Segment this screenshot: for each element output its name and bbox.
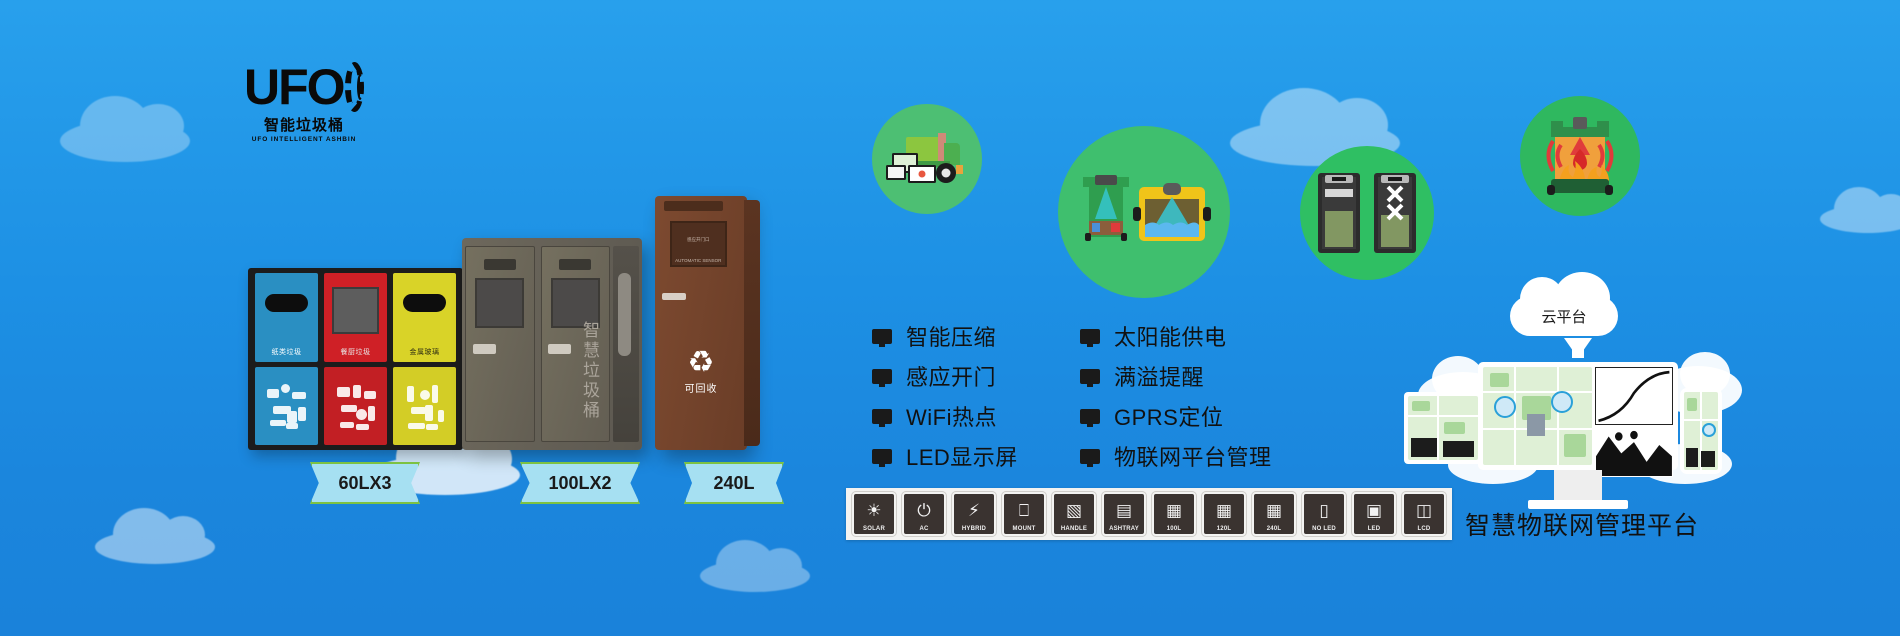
cloud-platform-label: 云平台 xyxy=(1541,306,1586,327)
feature-label: WiFi热点 xyxy=(906,400,997,432)
option-hybrid[interactable]: ⚡ HYBRID xyxy=(952,492,996,536)
feature-label: LED显示屏 xyxy=(906,440,1018,472)
chart-panel xyxy=(1595,367,1673,465)
brand-logo: UFO 智能垃圾桶 UFO INTELLIGENT ASHBIN xyxy=(244,62,364,143)
waste-slot xyxy=(265,294,308,312)
compartment-top-paper: 纸类垃圾 xyxy=(255,273,318,362)
area-chart xyxy=(1595,427,1673,477)
option-label: 100L xyxy=(1167,526,1181,532)
feature-circle-garbage-truck xyxy=(872,104,982,214)
logo-wordmark: UFO xyxy=(244,64,344,110)
compartment-body-paper xyxy=(255,367,318,445)
bin-icon: ▦ xyxy=(1216,494,1232,526)
option-icon-strip: ☀ SOLAR ⏻ AC ⚡ HYBRID ⎕ MOUNT ▧ HANDLE ▤… xyxy=(846,488,1452,540)
handle-icon: ▧ xyxy=(1066,494,1082,526)
bin-handle xyxy=(473,344,496,354)
ashtray-icon: ▤ xyxy=(1116,494,1132,526)
feature-item: 物联网平台管理 xyxy=(1080,440,1272,472)
feature-list-left: 智能压缩 感应开门 WiFi热点 LED显示屏 xyxy=(872,320,1018,480)
product-bin-240l: 感应开门口 AUTOMATIC SENSOR ♻ 可回收 xyxy=(655,196,747,450)
feature-label: 物联网平台管理 xyxy=(1114,440,1272,472)
recycle-icon: ♻ xyxy=(685,348,718,378)
bin-compartment-kitchen: 餐厨垃圾 xyxy=(324,273,387,445)
option-label: LED xyxy=(1368,526,1381,532)
monitor-icon xyxy=(1080,369,1100,384)
capacity-label-240l: 240L xyxy=(684,462,784,504)
feature-circle-compression xyxy=(1300,146,1434,280)
logo-english-name: UFO INTELLIGENT ASHBIN xyxy=(244,136,364,143)
capacity-label-60lx3: 60LX3 xyxy=(310,462,420,504)
logo-mark: UFO xyxy=(244,62,364,112)
platform-caption: 智慧物联网管理平台 xyxy=(1432,506,1732,542)
compartment-label: 金属玻璃 xyxy=(393,347,456,357)
feature-item: 感应开门 xyxy=(872,360,1018,392)
bolt-icon: ⚡ xyxy=(968,494,980,526)
option-label: 240L xyxy=(1267,526,1281,532)
monitor-icon xyxy=(1478,362,1678,470)
down-arrow-icon xyxy=(1564,338,1592,358)
waste-slot xyxy=(403,294,446,312)
compartment-screen xyxy=(332,287,379,334)
sun-icon: ☀ xyxy=(866,494,881,526)
cloud-decoration xyxy=(95,530,215,564)
fire-alarm-icon xyxy=(1537,115,1623,197)
feature-label: 感应开门 xyxy=(906,360,996,392)
option-label: SOLAR xyxy=(863,526,885,532)
phone-icon xyxy=(1680,388,1722,474)
option-ashtray[interactable]: ▤ ASHTRAY xyxy=(1102,492,1146,536)
blank-panel-icon: ▯ xyxy=(1319,494,1328,526)
option-label: ASHTRAY xyxy=(1109,526,1139,532)
monitor-icon xyxy=(872,329,892,344)
compartment-top-metal-glass: 金属玻璃 xyxy=(393,273,456,362)
bin-compartment-metal-glass: 金属玻璃 xyxy=(393,273,456,445)
option-120l[interactable]: ▦ 120L xyxy=(1202,492,1246,536)
bin-door-left xyxy=(465,246,535,442)
feature-item: 太阳能供电 xyxy=(1080,320,1272,352)
feature-circle-fill-level xyxy=(1058,126,1230,298)
waste-graphic xyxy=(332,377,380,436)
option-label: HYBRID xyxy=(962,526,986,532)
bin-body-text: 智慧垃圾桶 xyxy=(577,321,602,421)
option-led[interactable]: ▣ LED xyxy=(1352,492,1396,536)
option-label: AC xyxy=(919,526,928,532)
bin-icon: ▦ xyxy=(1166,494,1182,526)
bin-door-right: 智慧垃圾桶 xyxy=(541,246,611,442)
feature-label: 太阳能供电 xyxy=(1114,320,1227,352)
phone-screen xyxy=(1684,392,1718,470)
feature-label: 智能压缩 xyxy=(906,320,996,352)
recycle-label: 可回收 xyxy=(685,380,718,395)
compartment-label: 纸类垃圾 xyxy=(255,347,318,357)
option-solar[interactable]: ☀ SOLAR xyxy=(852,492,896,536)
garbage-truck-icon xyxy=(884,127,970,191)
waste-graphic xyxy=(401,377,449,436)
waste-compression-icon xyxy=(1312,171,1422,255)
monitor-stand xyxy=(1554,470,1602,500)
feature-circle-fire-alarm xyxy=(1520,96,1640,216)
option-240l[interactable]: ▦ 240L xyxy=(1252,492,1296,536)
monitor-icon xyxy=(872,449,892,464)
tablet-screen xyxy=(1408,396,1478,460)
bin-vent xyxy=(484,259,516,271)
compartment-body-kitchen xyxy=(324,367,387,445)
feature-list-right: 太阳能供电 满溢提醒 GPRS定位 物联网平台管理 xyxy=(1080,320,1272,480)
mount-icon: ⎕ xyxy=(1019,494,1029,526)
cloud-platform-badge: 云平台 xyxy=(1510,296,1618,336)
window-text-en: AUTOMATIC SENSOR xyxy=(672,258,725,265)
capacity-label-100lx2: 100LX2 xyxy=(520,462,640,504)
monitor-icon xyxy=(872,369,892,384)
option-100l[interactable]: ▦ 100L xyxy=(1152,492,1196,536)
monitor-icon xyxy=(1080,329,1100,344)
option-handle[interactable]: ▧ HANDLE xyxy=(1052,492,1096,536)
line-chart xyxy=(1595,367,1673,425)
recycle-badge: ♻ 可回收 xyxy=(685,348,718,395)
bin-compartment-paper: 纸类垃圾 xyxy=(255,273,318,445)
bin-handle xyxy=(662,293,686,301)
feature-item: 智能压缩 xyxy=(872,320,1018,352)
option-label: NO LED xyxy=(1312,526,1336,532)
waste-graphic xyxy=(263,377,311,436)
option-no-led[interactable]: ▯ NO LED xyxy=(1302,492,1346,536)
bin-display-window xyxy=(475,278,524,328)
feature-item: GPRS定位 xyxy=(1080,400,1272,432)
bin-display-window: 感应开门口 AUTOMATIC SENSOR xyxy=(670,221,727,267)
cloud-decoration xyxy=(1820,205,1900,233)
lcd-screen-icon: ◫ xyxy=(1416,494,1432,526)
option-mount[interactable]: ⎕ MOUNT xyxy=(1002,492,1046,536)
logo-chinese-name: 智能垃圾桶 xyxy=(244,114,364,135)
option-label: HANDLE xyxy=(1061,526,1087,532)
product-bin-60lx3: 纸类垃圾 餐厨垃圾 xyxy=(248,268,463,450)
window-text-cn: 感应开门口 xyxy=(672,237,725,244)
bin-vent xyxy=(664,201,723,211)
cloud-decoration xyxy=(700,560,810,592)
bin-side-panel xyxy=(613,246,639,442)
option-label: 120L xyxy=(1217,526,1231,532)
bin-icon: ▦ xyxy=(1266,494,1282,526)
iot-platform-illustration: 云平台 xyxy=(1432,296,1732,536)
feature-item: WiFi热点 xyxy=(872,400,1018,432)
compartment-label: 餐厨垃圾 xyxy=(324,347,387,357)
led-panel-icon: ▣ xyxy=(1366,494,1382,526)
tablet-icon xyxy=(1404,392,1482,464)
compartment-top-kitchen: 餐厨垃圾 xyxy=(324,273,387,362)
map-panel xyxy=(1483,367,1592,465)
cloud-decoration xyxy=(60,120,190,162)
feature-label: 满溢提醒 xyxy=(1114,360,1204,392)
compartment-body-metal-glass xyxy=(393,367,456,445)
ring-icon xyxy=(345,62,364,112)
fill-level-sensor-icon xyxy=(1077,173,1211,251)
feature-item: LED显示屏 xyxy=(872,440,1018,472)
bin-handle xyxy=(548,344,571,354)
feature-label: GPRS定位 xyxy=(1114,400,1223,432)
option-label: LCD xyxy=(1418,526,1431,532)
monitor-screen xyxy=(1483,367,1673,465)
monitor-icon xyxy=(1080,409,1100,424)
bin-vent xyxy=(559,259,591,271)
monitor-icon xyxy=(1080,449,1100,464)
product-bin-100lx2: 智慧垃圾桶 xyxy=(462,238,642,450)
monitor-icon xyxy=(872,409,892,424)
option-ac[interactable]: ⏻ AC xyxy=(902,492,946,536)
plug-icon: ⏻ xyxy=(917,494,930,526)
bin-side-panel xyxy=(744,200,760,446)
feature-item: 满溢提醒 xyxy=(1080,360,1272,392)
option-label: MOUNT xyxy=(1013,526,1036,532)
